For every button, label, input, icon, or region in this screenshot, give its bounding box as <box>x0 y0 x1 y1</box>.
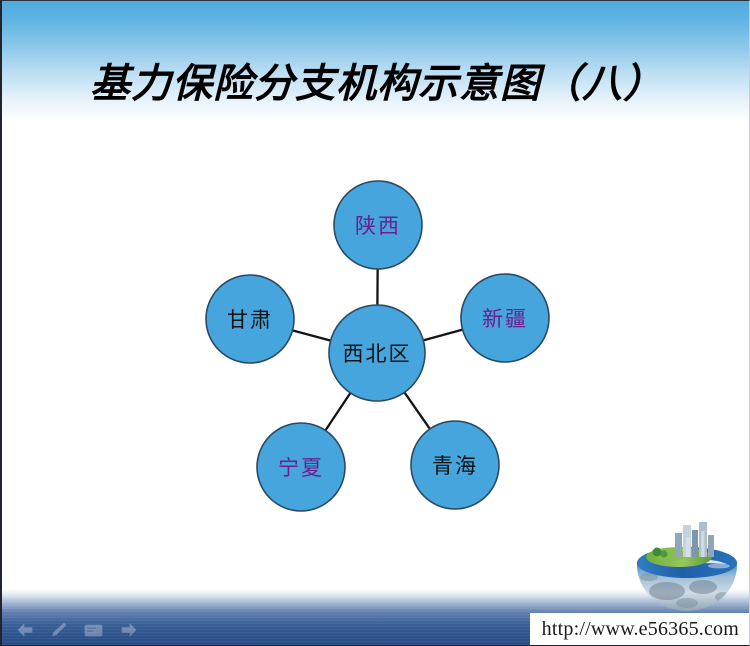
diagram-nodes: 陕西新疆甘肃宁夏青海西北区 <box>206 181 549 511</box>
diagram-node-2[interactable]: 新疆 <box>461 274 549 362</box>
diagram-node-2-label: 新疆 <box>482 307 528 331</box>
website-url[interactable]: http://www.e56365.com <box>530 613 749 645</box>
pen-tool-button[interactable] <box>51 622 67 637</box>
diagram-node-1[interactable]: 陕西 <box>334 181 422 269</box>
diagram-node-5-label: 青海 <box>432 454 478 478</box>
diagram-node-center[interactable]: 西北区 <box>329 305 425 401</box>
presentation-slide: 基力保险分支机构示意图（八） 陕西新疆甘肃宁夏青海西北区 <box>0 0 750 646</box>
spoke-line-3 <box>292 330 332 341</box>
spoke-line-2 <box>422 329 463 340</box>
diagram-node-4[interactable]: 宁夏 <box>257 423 345 511</box>
diagram-node-3[interactable]: 甘肃 <box>206 275 294 363</box>
previous-slide-button[interactable] <box>16 623 34 637</box>
diagram-node-4-label: 宁夏 <box>278 456 324 480</box>
earth-city-globe-logo <box>631 519 743 623</box>
slide-menu-button[interactable] <box>84 623 103 637</box>
diagram-node-5[interactable]: 青海 <box>411 421 499 509</box>
slideshow-nav-controls[interactable] <box>16 622 138 637</box>
diagram-node-center-label: 西北区 <box>343 342 412 366</box>
spoke-line-5 <box>404 392 431 430</box>
diagram-node-3-label: 甘肃 <box>227 308 273 332</box>
diagram-node-1-label: 陕西 <box>355 214 401 238</box>
next-slide-button[interactable] <box>120 623 138 637</box>
spoke-line-4 <box>325 392 351 431</box>
